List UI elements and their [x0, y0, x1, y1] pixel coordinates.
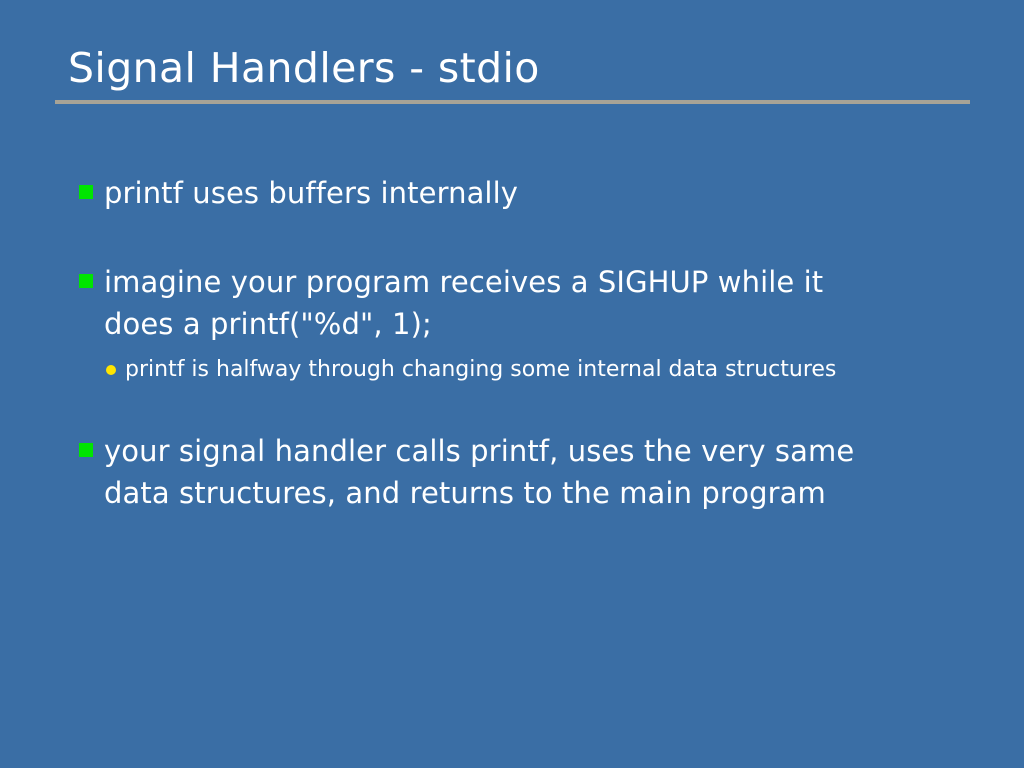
list-item[interactable]: printf uses buffers internally — [79, 172, 959, 214]
title-block: Signal Handlers - stdio — [55, 48, 970, 104]
list-item[interactable]: imagine your program receives a SIGHUP w… — [79, 261, 959, 345]
slide-canvas: Signal Handlers - stdio printf uses buff… — [0, 0, 1024, 768]
list-item-line: data structures, and returns to the main… — [104, 472, 959, 514]
sub-list-item[interactable]: printf is halfway through changing some … — [106, 354, 959, 385]
list-item-label: your signal handler calls printf, uses t… — [104, 430, 959, 514]
list-item-line: printf uses buffers internally — [104, 172, 959, 214]
list-item[interactable]: your signal handler calls printf, uses t… — [79, 430, 959, 514]
page-title: Signal Handlers - stdio — [55, 48, 970, 90]
green-square-bullet-icon — [79, 274, 93, 288]
green-square-bullet-icon — [79, 185, 93, 199]
list-item-line: does a printf("%d", 1); — [104, 303, 959, 345]
spacer — [79, 385, 959, 430]
sub-list-item-line: printf is halfway through changing some … — [125, 354, 959, 385]
title-divider — [55, 100, 970, 104]
list-item-line: your signal handler calls printf, uses t… — [104, 430, 959, 472]
yellow-disc-bullet-icon — [106, 365, 116, 375]
list-item-label: printf uses buffers internally — [104, 172, 959, 214]
list-item-label: imagine your program receives a SIGHUP w… — [104, 261, 959, 345]
sub-list-item-label: printf is halfway through changing some … — [125, 354, 959, 385]
list-item-line: imagine your program receives a SIGHUP w… — [104, 261, 959, 303]
bullet-list: printf uses buffers internally imagine y… — [79, 172, 959, 514]
spacer — [79, 345, 959, 354]
spacer — [79, 214, 959, 261]
green-square-bullet-icon — [79, 443, 93, 457]
